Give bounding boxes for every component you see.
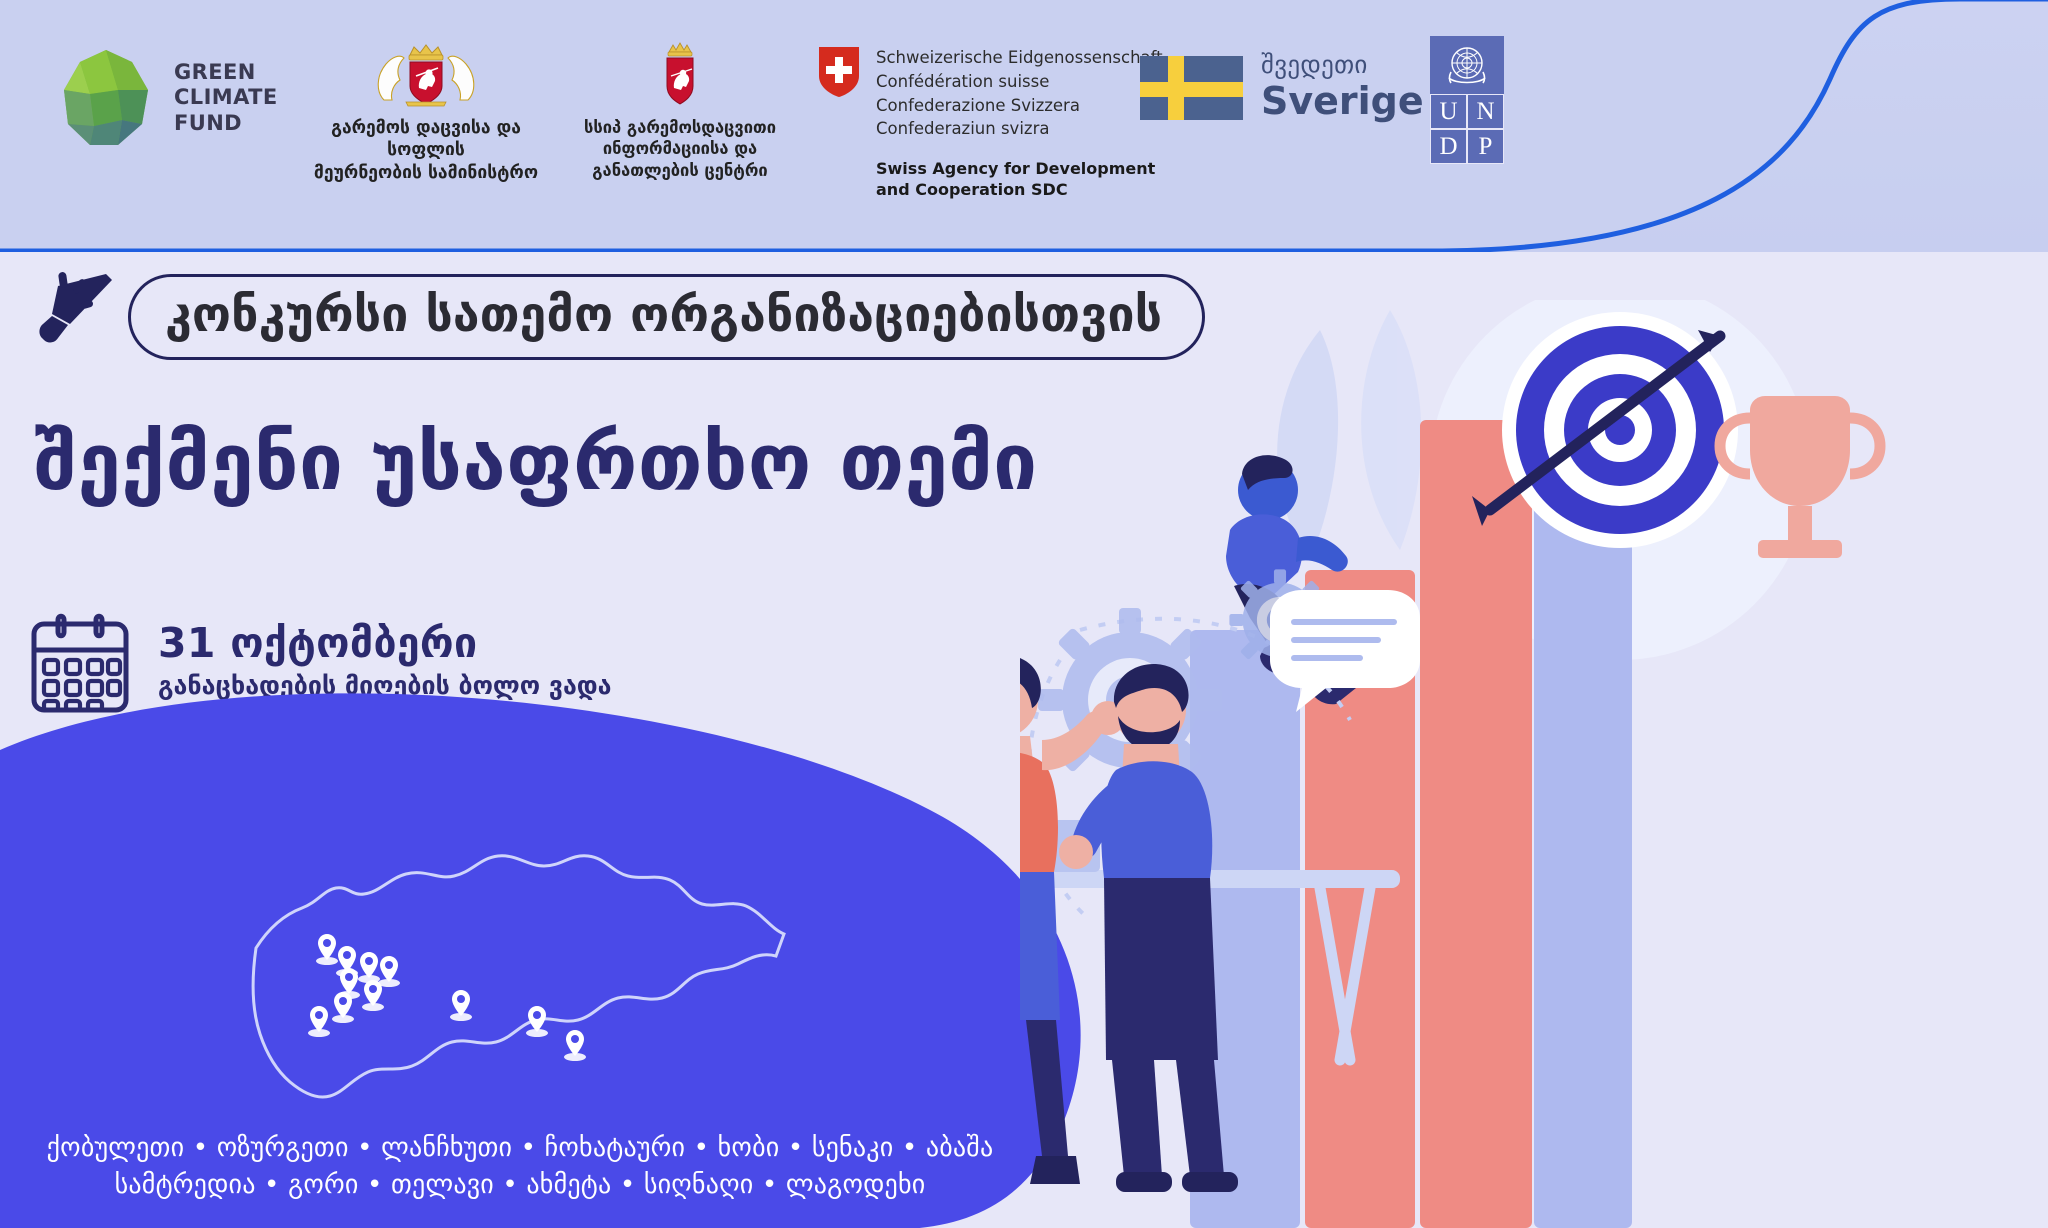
- logo-environmental-information-centre: სსიპ გარემოსდაცვითი ინფორმაციისა და განა…: [570, 42, 790, 181]
- city-list-line-2: სამტრედია • გორი • თელავი • ახმეტა • სიღ…: [0, 1167, 1040, 1204]
- gcf-line-1: GREEN: [174, 60, 278, 86]
- swiss-lang-fr: Confédération suisse: [876, 70, 1163, 94]
- logo-ministry-of-environment: გარემოს დაცვისა და სოფლის მეურნეობის სამ…: [290, 42, 562, 184]
- poster-canvas: GREEN CLIMATE FUND: [0, 0, 2048, 1228]
- swiss-sub-line-2: and Cooperation SDC: [876, 179, 1163, 200]
- swiss-wordmark: Schweizerische Eidgenossenschaft Confédé…: [876, 46, 1163, 201]
- ministry-line-2: მეურნეობის სამინისტრო: [290, 162, 562, 184]
- map-pin-icon: [564, 1030, 586, 1061]
- map-pin-icon: [316, 934, 338, 965]
- swiss-lang-rm: Confederaziun svizra: [876, 117, 1163, 141]
- gcf-line-3: FUND: [174, 111, 278, 137]
- eyebrow-text: კონკურსი სათემო ორგანიზაციებისთვის: [165, 287, 1162, 343]
- gcf-polygon-icon: [60, 48, 152, 148]
- ministry-wordmark: გარემოს დაცვისა და სოფლის მეურნეობის სამ…: [290, 117, 562, 184]
- undp-letter-u: U: [1430, 94, 1467, 129]
- logo-swiss-confederation: Schweizerische Eidgenossenschaft Confédé…: [818, 46, 1163, 201]
- city-list: ქობულეთი • ოზურგეთი • ლანჩხუთი • ჩოხატაუ…: [0, 1130, 1040, 1204]
- map-pin-icon: [362, 980, 384, 1011]
- city-list-line-1: ქობულეთი • ოზურგეთი • ლანჩხუთი • ჩოხატაუ…: [0, 1130, 1040, 1167]
- undp-letter-grid: U N D P: [1430, 94, 1504, 164]
- eic-line-2: ინფორმაციისა და: [570, 138, 790, 159]
- swiss-agency-subtitle: Swiss Agency for Development and Coopera…: [876, 158, 1163, 201]
- swiss-lang-de: Schweizerische Eidgenossenschaft: [876, 46, 1163, 70]
- deadline-date: 31 ოქტომბერი: [158, 622, 612, 665]
- un-emblem-icon: [1430, 36, 1504, 94]
- georgia-small-crest-icon: [570, 42, 790, 108]
- georgia-map: [240, 830, 800, 1130]
- leaf-icon: [1277, 310, 1421, 560]
- map-pin-group: [308, 934, 586, 1061]
- sweden-flag-icon: [1140, 56, 1243, 120]
- eic-wordmark: სსიპ გარემოსდაცვითი ინფორმაციისა და განა…: [570, 117, 790, 181]
- partner-logo-row: GREEN CLIMATE FUND: [0, 0, 1560, 200]
- map-pin-icon: [358, 952, 380, 983]
- logo-undp: U N D P: [1430, 36, 1504, 164]
- sweden-wordmark: შვედეთი Sverige: [1261, 52, 1424, 124]
- map-pin-icon: [378, 956, 400, 987]
- teamwork-illustration: [1020, 300, 2048, 1228]
- gcf-wordmark: GREEN CLIMATE FUND: [174, 60, 278, 137]
- undp-letter-n: N: [1467, 94, 1504, 129]
- swiss-sub-line-1: Swiss Agency for Development: [876, 158, 1163, 179]
- map-pin-icon: [450, 990, 472, 1021]
- map-pin-icon: [308, 1006, 330, 1037]
- map-pin-icon: [332, 992, 354, 1023]
- swiss-shield-icon: [818, 46, 860, 98]
- page-title: შექმენი უსაფრთხო თემი: [34, 418, 1038, 508]
- eic-line-3: განათლების ცენტრი: [570, 160, 790, 181]
- eic-line-1: სსიპ გარემოსდაცვითი: [570, 117, 790, 138]
- ministry-line-1: გარემოს დაცვისა და სოფლის: [290, 117, 562, 162]
- megaphone-icon: [24, 272, 120, 362]
- swiss-language-list: Schweizerische Eidgenossenschaft Confédé…: [876, 46, 1163, 141]
- gcf-line-2: CLIMATE: [174, 85, 278, 111]
- undp-letter-p: P: [1467, 129, 1504, 164]
- logo-green-climate-fund: GREEN CLIMATE FUND: [60, 48, 278, 148]
- georgia-coat-of-arms-icon: [290, 42, 562, 108]
- sweden-label-en: Sverige: [1261, 80, 1424, 124]
- header-band: GREEN CLIMATE FUND: [0, 0, 2048, 252]
- logo-sweden: შვედეთი Sverige: [1140, 52, 1424, 124]
- swiss-lang-it: Confederazione Svizzera: [876, 94, 1163, 118]
- sweden-label-ka: შვედეთი: [1261, 52, 1424, 77]
- undp-letter-d: D: [1430, 129, 1467, 164]
